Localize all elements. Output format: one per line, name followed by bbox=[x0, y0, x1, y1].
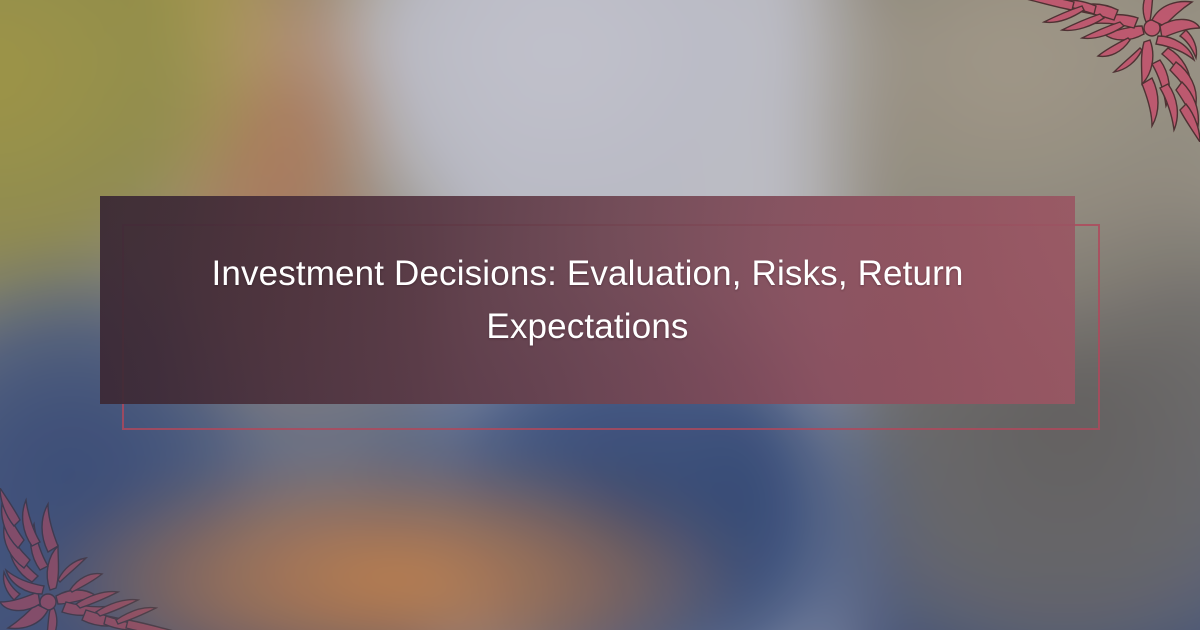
page-title: Investment Decisions: Evaluation, Risks,… bbox=[146, 247, 1029, 353]
title-banner: Investment Decisions: Evaluation, Risks,… bbox=[100, 196, 1075, 404]
share-card-canvas: Investment Decisions: Evaluation, Risks,… bbox=[0, 0, 1200, 630]
